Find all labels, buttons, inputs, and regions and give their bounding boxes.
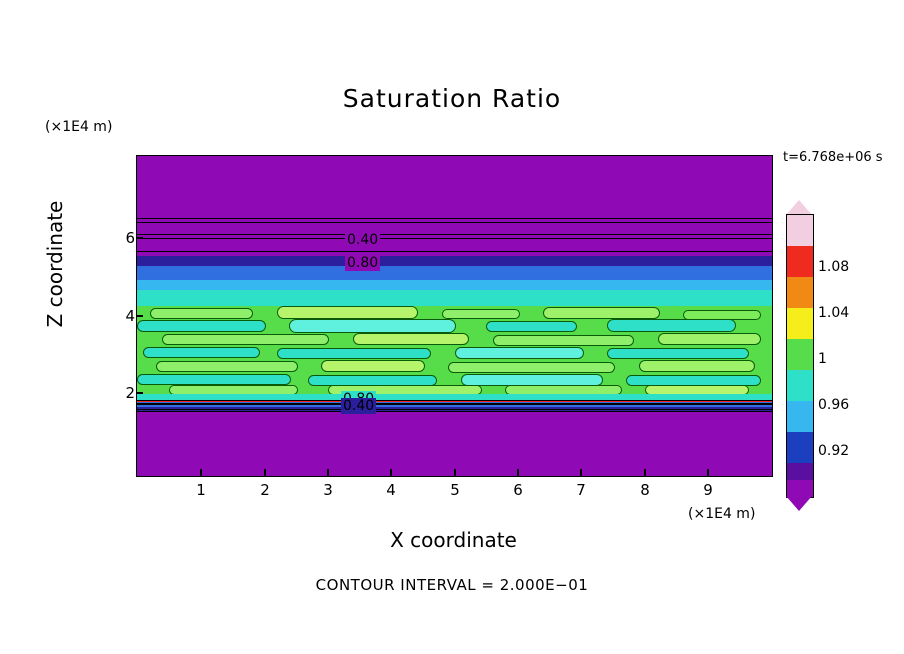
x-tick-mark xyxy=(327,469,329,476)
x-axis-label: X coordinate xyxy=(136,528,771,552)
contour-line xyxy=(137,403,772,404)
colorbar-tick-label: 1.04 xyxy=(818,305,849,321)
contour-line xyxy=(137,218,772,219)
contour-band-dark-blue-upper xyxy=(137,256,772,266)
x-tick-mark xyxy=(517,469,519,476)
x-tick-label: 8 xyxy=(630,481,660,499)
contour-line xyxy=(137,222,772,223)
y-axis-units: (×1E4 m) xyxy=(45,119,112,135)
colorbar-tick-label: 1.08 xyxy=(818,259,849,275)
x-tick-label: 3 xyxy=(313,481,343,499)
contour-line xyxy=(137,234,772,235)
contour-line xyxy=(137,404,772,405)
colorbar-segment xyxy=(787,370,813,401)
contour-line xyxy=(137,409,772,410)
contour-interval-note: CONTOUR INTERVAL = 2.000E−01 xyxy=(0,576,904,594)
contour-band-cyan-upper xyxy=(137,290,772,306)
colorbar-segment xyxy=(787,277,813,308)
colorbar-segment xyxy=(787,215,813,246)
y-tick-mark xyxy=(136,237,143,239)
contour-label: 0.80 xyxy=(345,255,380,271)
colorbar-tick-label: 0.96 xyxy=(818,397,849,413)
x-tick-mark xyxy=(200,469,202,476)
x-tick-mark xyxy=(454,469,456,476)
colorbar-segment xyxy=(787,246,813,277)
contour-label: 0.40 xyxy=(341,398,376,414)
chart-title: Saturation Ratio xyxy=(0,84,904,113)
x-tick-label: 6 xyxy=(503,481,533,499)
contour-plot[interactable]: 0.40 0.80 0.80 0.40 xyxy=(136,155,773,477)
x-tick-label: 4 xyxy=(376,481,406,499)
contour-band-skyblue-upper xyxy=(137,280,772,290)
colorbar-segment xyxy=(787,308,813,339)
x-tick-mark xyxy=(580,469,582,476)
colorbar-tick-label: 0.92 xyxy=(818,443,849,459)
y-tick-mark xyxy=(136,315,143,317)
x-tick-mark xyxy=(264,469,266,476)
y-tick-label: 2 xyxy=(105,384,135,402)
x-tick-mark xyxy=(390,469,392,476)
y-tick-mark xyxy=(136,392,143,394)
colorbar-segment xyxy=(787,432,813,463)
y-axis-label: Z coordinate xyxy=(43,164,67,364)
colorbar[interactable]: 1.08 1.04 1 0.96 0.92 xyxy=(786,200,812,510)
colorbar-bottom-arrow xyxy=(786,496,812,511)
colorbar-segment xyxy=(787,401,813,432)
x-tick-label: 5 xyxy=(440,481,470,499)
contour-line xyxy=(137,238,772,239)
contour-line xyxy=(137,400,772,401)
colorbar-segment xyxy=(787,339,813,370)
contour-line xyxy=(137,411,772,412)
x-tick-label: 2 xyxy=(250,481,280,499)
x-axis-units: (×1E4 m) xyxy=(688,506,755,522)
x-tick-label: 7 xyxy=(566,481,596,499)
colorbar-body xyxy=(786,214,814,498)
colorbar-segment xyxy=(787,480,813,497)
colorbar-tick-label: 1 xyxy=(818,351,827,367)
contour-label: 0.40 xyxy=(345,232,380,248)
colorbar-top-arrow xyxy=(786,200,812,215)
contour-texture xyxy=(137,306,772,394)
x-tick-mark xyxy=(644,469,646,476)
x-tick-label: 1 xyxy=(186,481,216,499)
y-tick-label: 6 xyxy=(105,229,135,247)
x-tick-label: 9 xyxy=(693,481,723,499)
y-tick-label: 4 xyxy=(105,307,135,325)
x-tick-mark xyxy=(707,469,709,476)
contour-line xyxy=(137,251,772,252)
colorbar-segment xyxy=(787,463,813,480)
time-annotation: t=6.768e+06 s xyxy=(783,150,883,165)
contour-band-blue-upper xyxy=(137,266,772,280)
